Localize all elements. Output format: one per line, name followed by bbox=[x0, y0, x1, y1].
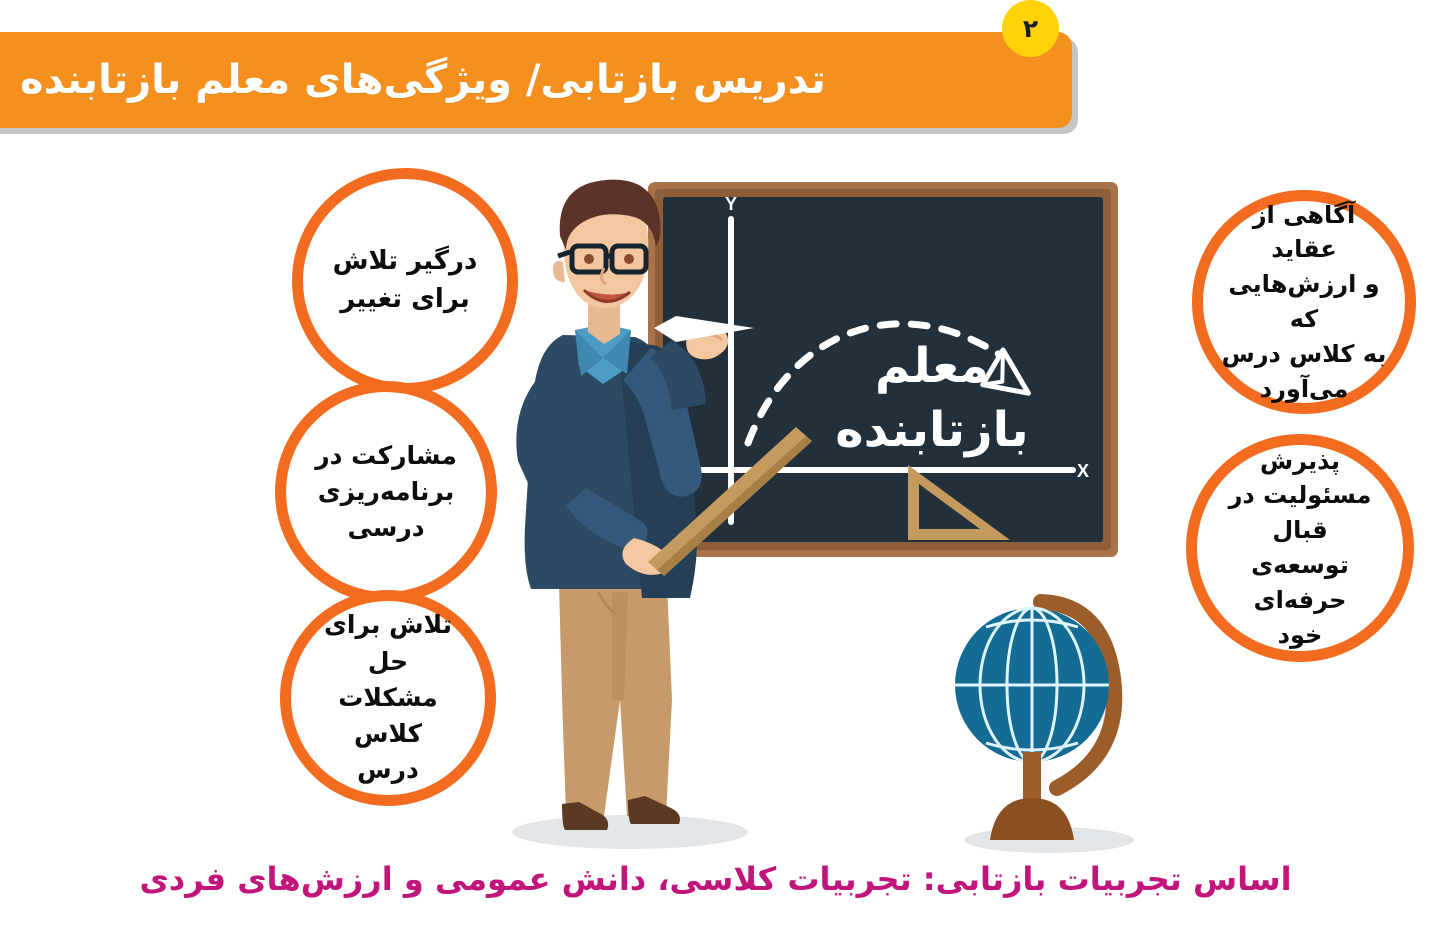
teacher-eye-left bbox=[584, 254, 594, 264]
bubble-awareness-of-beliefs-and-values[interactable]: آگاهی از عقاید و ارزش‌هایی که به کلاس در… bbox=[1192, 190, 1416, 414]
teacher-ear bbox=[553, 261, 565, 282]
blackboard-heading-line-1: معلم bbox=[875, 338, 989, 394]
teacher-shoe-right bbox=[628, 796, 680, 824]
axis-y-label: Y bbox=[725, 194, 737, 214]
bubble-solving-classroom-problems[interactable]: تلاش برای حل مشکلات کلاس درس bbox=[280, 590, 496, 806]
bubble-responsibility-for-professional-development[interactable]: پذیرش مسئولیت در قبال توسعه‌ی حرفه‌ای خو… bbox=[1186, 434, 1414, 662]
blackboard-heading-line-2: بازتابنده bbox=[835, 402, 1028, 458]
axis-x-label: X bbox=[1077, 461, 1089, 481]
bubble-label: آگاهی از عقاید و ارزش‌هایی که به کلاس در… bbox=[1203, 198, 1405, 407]
bubble-label: درگیر تلاش برای تغییر bbox=[319, 243, 492, 318]
slide-header-bar: تدریس بازتابی/ ویژگی‌های معلم بازتابنده bbox=[0, 32, 1072, 128]
bubble-label: تلاش برای حل مشکلات کلاس درس bbox=[291, 607, 485, 788]
bubble-label: مشارکت در برنامه‌ریزی درسی bbox=[301, 438, 471, 547]
globe-base bbox=[990, 798, 1074, 840]
bubble-participation-in-curriculum-planning[interactable]: مشارکت در برنامه‌ریزی درسی bbox=[275, 381, 497, 603]
bubble-engaged-in-change-effort[interactable]: درگیر تلاش برای تغییر bbox=[292, 168, 518, 394]
page-title: تدریس بازتابی/ ویژگی‌های معلم بازتابنده bbox=[0, 57, 846, 103]
globe bbox=[955, 602, 1114, 840]
slide-number-badge: ۲ bbox=[1002, 0, 1059, 57]
bubble-label: پذیرش مسئولیت در قبال توسعه‌ی حرفه‌ای خو… bbox=[1197, 444, 1403, 653]
teacher-eye-right bbox=[624, 254, 634, 264]
footer-caption: اساس تجربیات بازتابی: تجربیات کلاسی، دان… bbox=[0, 860, 1431, 898]
